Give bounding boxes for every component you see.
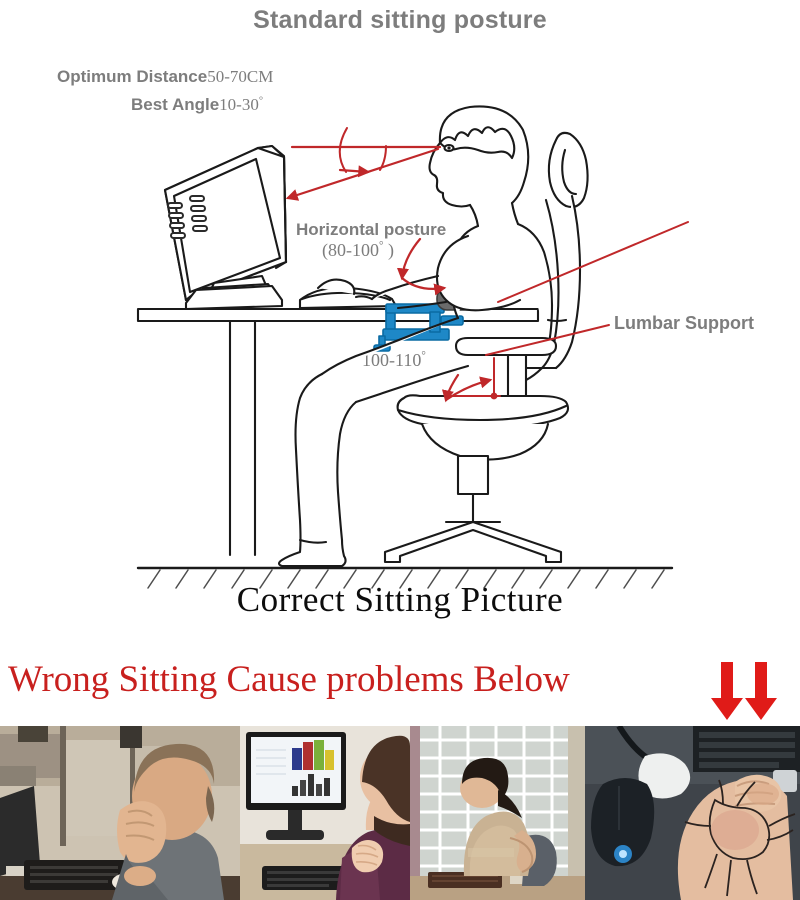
wrong-sitting-heading: Wrong Sitting Cause problems Below xyxy=(8,658,708,701)
correct-sitting-caption: Correct Sitting Picture xyxy=(0,580,800,620)
photo-woman-neck-pain xyxy=(240,726,410,900)
photo-wrist-carpal-tunnel xyxy=(585,726,800,900)
problem-photo-strip xyxy=(0,726,800,900)
poster-page: Standard sitting posture Optimum Distanc… xyxy=(0,0,800,900)
photo-tired-man-cubicle xyxy=(0,726,240,900)
posture-line-art xyxy=(0,0,800,640)
photo-woman-back-pain xyxy=(410,726,585,900)
double-down-arrow-icon xyxy=(707,660,787,722)
